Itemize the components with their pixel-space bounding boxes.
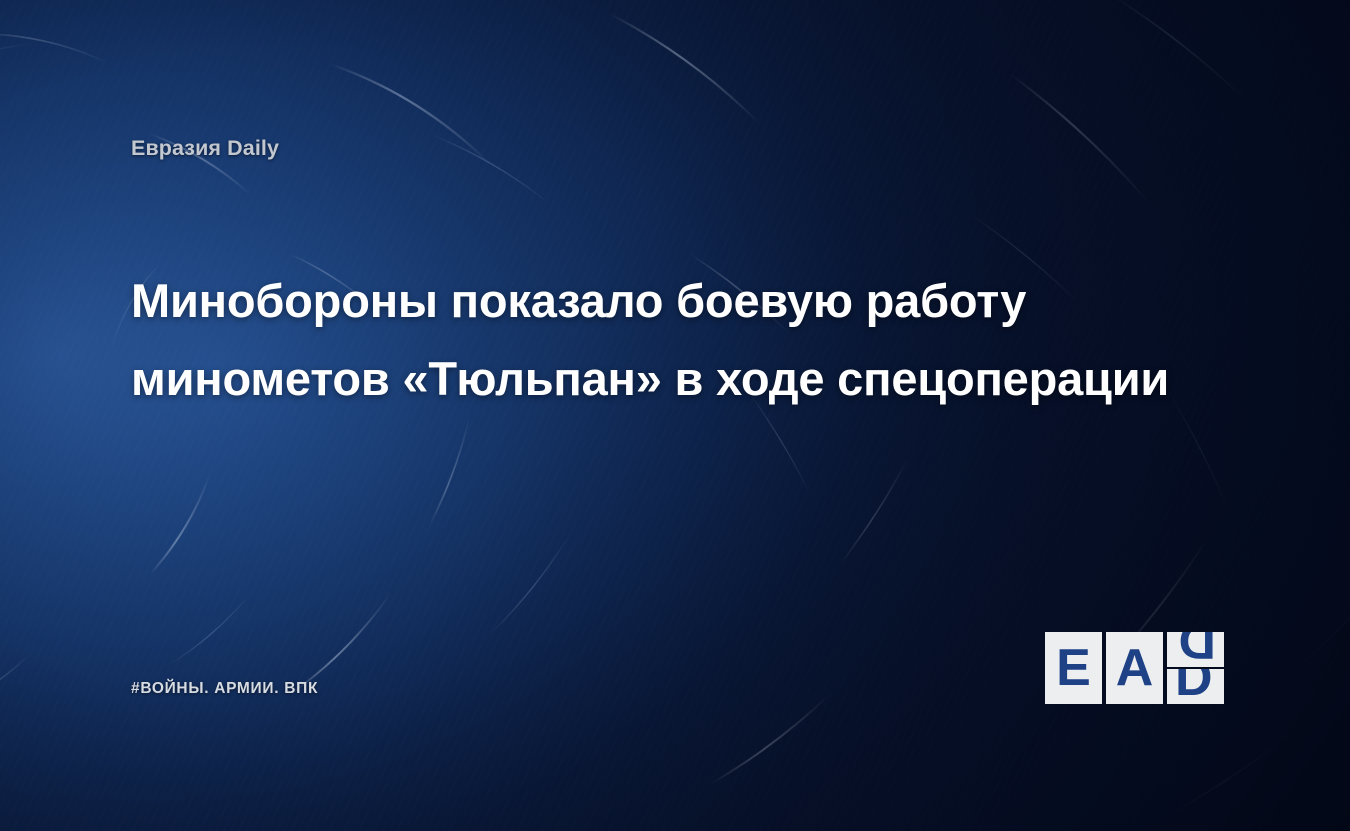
logo-tile-d-bottom: D	[1167, 669, 1224, 704]
article-cover-card: Евразия Daily Минобороны показало боевую…	[0, 0, 1350, 831]
cover-content: Евразия Daily Минобороны показало боевую…	[0, 0, 1350, 831]
logo-tile-a: A	[1106, 632, 1163, 704]
category-tag: #ВОЙНЫ. АРМИИ. ВПК	[131, 680, 318, 698]
svg-text:D: D	[1178, 632, 1216, 667]
logo-tile-e: E	[1045, 632, 1102, 704]
logo-tile-d-top: D	[1167, 632, 1224, 667]
page-title: Минобороны показало боевую работу миноме…	[131, 262, 1221, 418]
logo-tile-d-column: D D	[1167, 632, 1224, 704]
svg-text:D: D	[1175, 669, 1213, 704]
brand-name: Евразия Daily	[131, 136, 279, 161]
eadaily-logo: E A D D	[1045, 632, 1225, 704]
